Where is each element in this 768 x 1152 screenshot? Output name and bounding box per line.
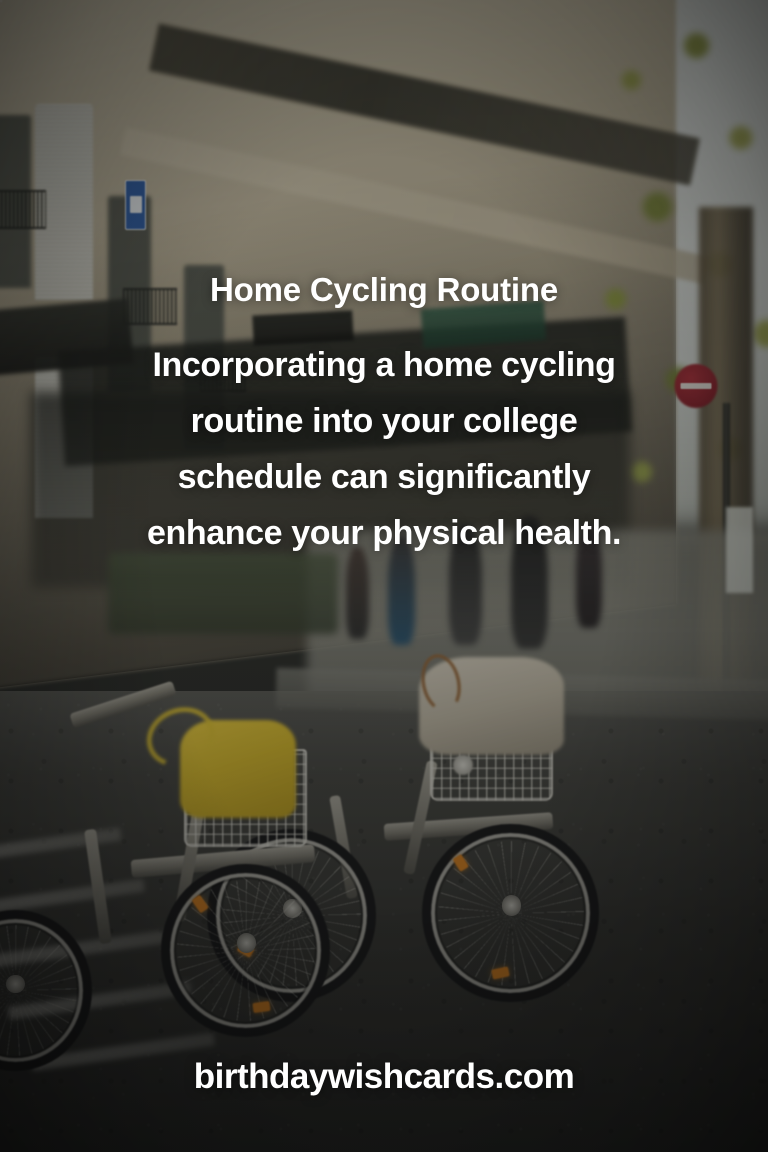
body-text: Incorporating a home cycling routine int… [84,337,684,561]
body-line: enhance your physical health. [84,505,684,561]
website-watermark: birthdaywishcards.com [0,1057,768,1097]
page-title: Home Cycling Routine [0,270,768,310]
body-line: Incorporating a home cycling [84,337,684,393]
text-overlay: Home Cycling Routine Incorporating a hom… [0,0,768,1152]
social-media-card: Home Cycling Routine Incorporating a hom… [0,0,768,1152]
body-line: schedule can significantly [84,449,684,505]
body-line: routine into your college [84,393,684,449]
